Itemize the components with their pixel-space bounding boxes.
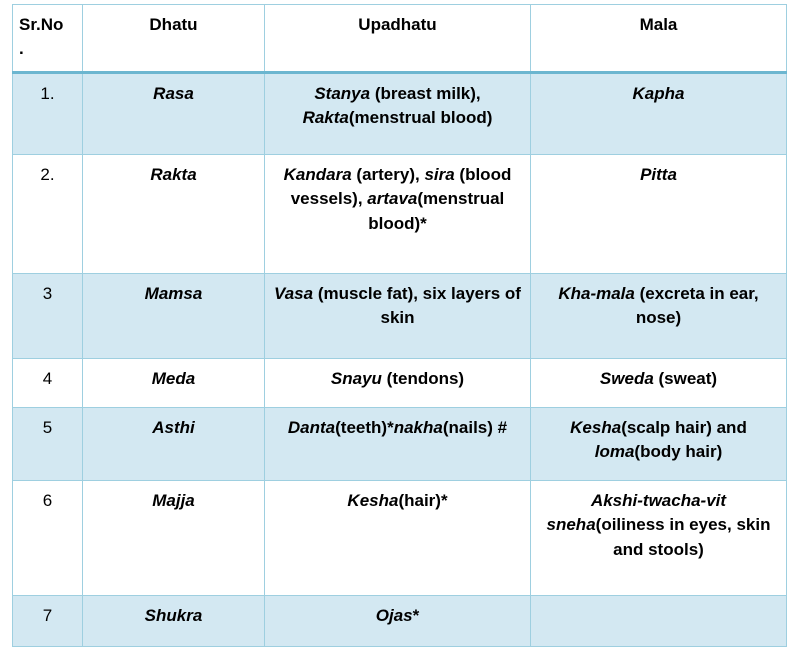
cell-serial-number: 7 — [13, 596, 83, 647]
cell-upadhatu: Kandara (artery), sira (blood vessels), … — [265, 155, 531, 274]
upadhatu_parts-segment: artava — [367, 189, 417, 208]
cell-upadhatu: Snayu (tendons) — [265, 359, 531, 408]
cell-mala: Kha-mala (excreta in ear, nose) — [531, 274, 787, 359]
upadhatu_parts-segment: Vasa — [274, 284, 313, 303]
cell-mala: Akshi-twacha-vit sneha(oiliness in eyes,… — [531, 481, 787, 596]
upadhatu_parts-segment: (teeth)* — [335, 418, 394, 437]
cell-serial-number: 1. — [13, 73, 83, 155]
mala_parts-segment: Kesha — [570, 418, 621, 437]
table-body: 1.RasaStanya (breast milk), Rakta(menstr… — [13, 73, 787, 647]
mala_parts-segment: (sweat) — [654, 369, 717, 388]
cell-serial-number: 2. — [13, 155, 83, 274]
dhatu-name: Majja — [152, 491, 195, 510]
table-row: 7ShukraOjas* — [13, 596, 787, 647]
cell-upadhatu: Ojas* — [265, 596, 531, 647]
cell-dhatu: Asthi — [83, 408, 265, 481]
mala_parts-segment: Pitta — [640, 165, 677, 184]
cell-mala: Sweda (sweat) — [531, 359, 787, 408]
cell-serial-number: 5 — [13, 408, 83, 481]
upadhatu_parts-segment: Kesha — [347, 491, 398, 510]
mala_parts-segment: (scalp hair) and — [621, 418, 747, 437]
table-row: 6MajjaKesha(hair)*Akshi-twacha-vit sneha… — [13, 481, 787, 596]
upadhatu_parts-segment: nakha — [394, 418, 443, 437]
cell-upadhatu: Kesha(hair)* — [265, 481, 531, 596]
mala_parts-segment: (body hair) — [634, 442, 722, 461]
cell-serial-number: 3 — [13, 274, 83, 359]
mala_parts-segment: loma — [595, 442, 635, 461]
column-header-srno-line1: Sr.No — [19, 15, 63, 34]
cell-dhatu: Meda — [83, 359, 265, 408]
column-header-srno: Sr.No . — [13, 5, 83, 73]
table-row: 4MedaSnayu (tendons)Sweda (sweat) — [13, 359, 787, 408]
cell-mala: Kapha — [531, 73, 787, 155]
dhatu-name: Shukra — [145, 606, 203, 625]
mala_parts-segment: (oiliness in eyes, skin and stools) — [596, 515, 771, 558]
cell-upadhatu: Vasa (muscle fat), six layers of skin — [265, 274, 531, 359]
upadhatu_parts-segment: sira — [424, 165, 454, 184]
upadhatu_parts-segment: (menstrual blood) — [349, 108, 493, 127]
column-header-upadhatu: Upadhatu — [265, 5, 531, 73]
column-header-mala: Mala — [531, 5, 787, 73]
dhatu-upadhatu-mala-table: Sr.No . Dhatu Upadhatu Mala 1.RasaStanya… — [12, 4, 787, 647]
table-header: Sr.No . Dhatu Upadhatu Mala — [13, 5, 787, 73]
table-row: 5AsthiDanta(teeth)*nakha(nails) #Kesha(s… — [13, 408, 787, 481]
cell-dhatu: Mamsa — [83, 274, 265, 359]
mala_parts-segment: Sweda — [600, 369, 654, 388]
cell-upadhatu: Danta(teeth)*nakha(nails) # — [265, 408, 531, 481]
upadhatu_parts-segment: Ojas — [376, 606, 413, 625]
dhatu-name: Rasa — [153, 84, 194, 103]
upadhatu_parts-segment: Danta — [288, 418, 335, 437]
cell-serial-number: 6 — [13, 481, 83, 596]
upadhatu_parts-segment: Kandara — [284, 165, 352, 184]
table-row: 3MamsaVasa (muscle fat), six layers of s… — [13, 274, 787, 359]
dhatu-name: Rakta — [150, 165, 196, 184]
cell-mala: Kesha(scalp hair) and loma(body hair) — [531, 408, 787, 481]
upadhatu_parts-segment: Rakta — [303, 108, 349, 127]
dhatu-name: Asthi — [152, 418, 195, 437]
mala_parts-segment: Kapha — [633, 84, 685, 103]
cell-upadhatu: Stanya (breast milk), Rakta(menstrual bl… — [265, 73, 531, 155]
cell-dhatu: Majja — [83, 481, 265, 596]
upadhatu_parts-segment: (artery), — [352, 165, 425, 184]
upadhatu_parts-segment: Snayu — [331, 369, 382, 388]
cell-dhatu: Shukra — [83, 596, 265, 647]
cell-dhatu: Rasa — [83, 73, 265, 155]
column-header-dhatu: Dhatu — [83, 5, 265, 73]
upadhatu_parts-segment: * — [413, 606, 420, 625]
upadhatu_parts-segment: Stanya — [314, 84, 370, 103]
table-header-row: Sr.No . Dhatu Upadhatu Mala — [13, 5, 787, 73]
mala_parts-segment: Kha-mala — [558, 284, 635, 303]
dhatu-name: Meda — [152, 369, 195, 388]
upadhatu_parts-segment: (muscle fat), six layers of skin — [313, 284, 521, 327]
mala_parts-segment: (excreta in ear, nose) — [635, 284, 759, 327]
upadhatu_parts-segment: (breast milk), — [370, 84, 481, 103]
cell-mala — [531, 596, 787, 647]
upadhatu_parts-segment: (hair)* — [398, 491, 447, 510]
cell-dhatu: Rakta — [83, 155, 265, 274]
table-row: 1.RasaStanya (breast milk), Rakta(menstr… — [13, 73, 787, 155]
upadhatu_parts-segment: (tendons) — [382, 369, 464, 388]
column-header-srno-line2: . — [19, 37, 76, 61]
dhatu-name: Mamsa — [145, 284, 203, 303]
upadhatu_parts-segment: (nails) # — [443, 418, 507, 437]
table-container: Sr.No . Dhatu Upadhatu Mala 1.RasaStanya… — [12, 4, 786, 582]
cell-serial-number: 4 — [13, 359, 83, 408]
table-row: 2.RaktaKandara (artery), sira (blood ves… — [13, 155, 787, 274]
cell-mala: Pitta — [531, 155, 787, 274]
